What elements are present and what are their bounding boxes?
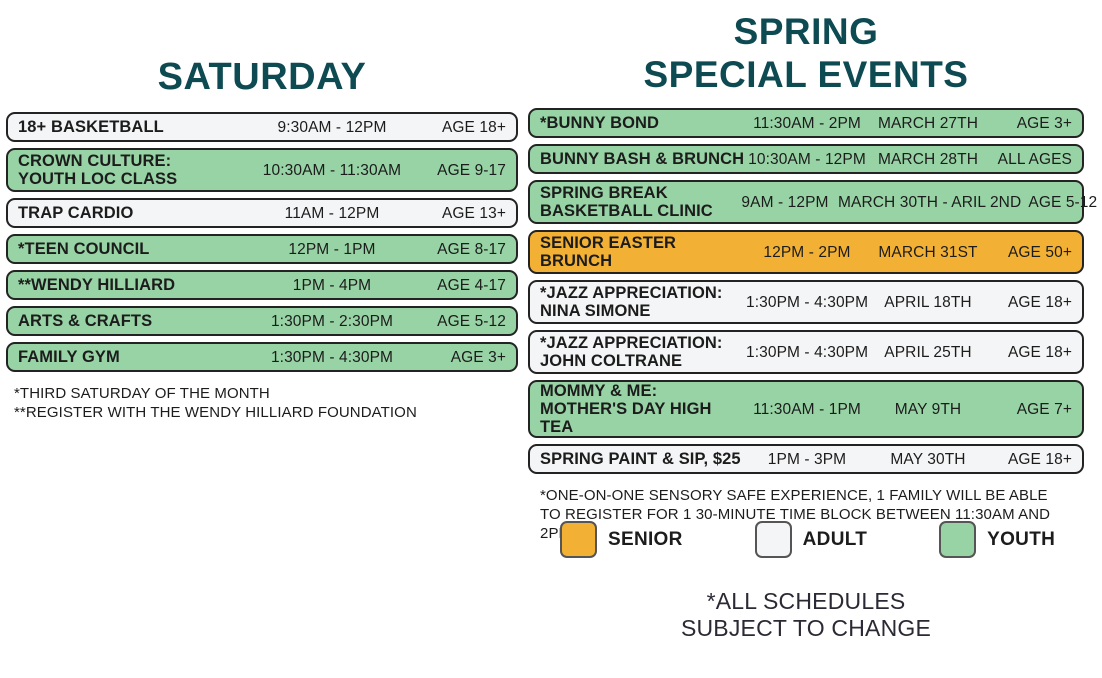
activity-name: 18+ BASKETBALL bbox=[18, 118, 256, 136]
activity-age: AGE 4-17 bbox=[408, 277, 506, 294]
event-row[interactable]: SPRING PAINT & SIP, $251PM - 3PMMAY 30TH… bbox=[528, 444, 1084, 474]
legend-item-youth: YOUTH bbox=[939, 521, 1055, 558]
legend-label: ADULT bbox=[803, 529, 867, 551]
activity-age: AGE 8-17 bbox=[408, 241, 506, 258]
activity-name: FAMILY GYM bbox=[18, 348, 256, 366]
event-age: ALL AGES bbox=[988, 151, 1072, 168]
event-date: APRIL 25TH bbox=[868, 344, 988, 361]
schedule-disclaimer: *ALL SCHEDULES SUBJECT TO CHANGE bbox=[530, 588, 1082, 642]
event-row[interactable]: *BUNNY BOND11:30AM - 2PMMARCH 27THAGE 3+ bbox=[528, 108, 1084, 138]
activity-time: 1:30PM - 2:30PM bbox=[256, 313, 408, 330]
activity-age: AGE 9-17 bbox=[408, 162, 506, 179]
activity-time: 10:30AM - 11:30AM bbox=[256, 162, 408, 179]
activity-age: AGE 3+ bbox=[408, 349, 506, 366]
event-time: 1:30PM - 4:30PM bbox=[746, 344, 868, 361]
event-name: *JAZZ APPRECIATION: JOHN COLTRANE bbox=[540, 334, 746, 370]
event-row[interactable]: SPRING BREAK BASKETBALL CLINIC9AM - 12PM… bbox=[528, 180, 1084, 224]
schedule-row[interactable]: ARTS & CRAFTS1:30PM - 2:30PMAGE 5-12 bbox=[6, 306, 518, 336]
legend-label: SENIOR bbox=[608, 529, 683, 551]
event-date: APRIL 18TH bbox=[868, 294, 988, 311]
activity-name: *TEEN COUNCIL bbox=[18, 240, 256, 258]
event-age: AGE 18+ bbox=[988, 294, 1072, 311]
event-date: MARCH 28TH bbox=[868, 151, 988, 168]
activity-name: TRAP CARDIO bbox=[18, 204, 256, 222]
special-events-section: SPRING SPECIAL EVENTS *BUNNY BOND11:30AM… bbox=[528, 10, 1084, 543]
event-name: *JAZZ APPRECIATION: NINA SIMONE bbox=[540, 284, 746, 320]
schedule-row[interactable]: CROWN CULTURE: YOUTH LOC CLASS10:30AM - … bbox=[6, 148, 518, 192]
event-time: 10:30AM - 12PM bbox=[746, 151, 868, 168]
event-row[interactable]: *JAZZ APPRECIATION: NINA SIMONE1:30PM - … bbox=[528, 280, 1084, 324]
saturday-footnotes: *THIRD SATURDAY OF THE MONTH **REGISTER … bbox=[6, 384, 518, 422]
event-age: AGE 5-12 bbox=[1021, 194, 1097, 211]
activity-time: 1:30PM - 4:30PM bbox=[256, 349, 408, 366]
schedule-row[interactable]: *TEEN COUNCIL12PM - 1PMAGE 8-17 bbox=[6, 234, 518, 264]
event-time: 1:30PM - 4:30PM bbox=[746, 294, 868, 311]
event-date: MARCH 31ST bbox=[868, 244, 988, 261]
activity-time: 11AM - 12PM bbox=[256, 205, 408, 222]
activity-age: AGE 5-12 bbox=[408, 313, 506, 330]
schedule-row[interactable]: **WENDY HILLIARD1PM - 4PMAGE 4-17 bbox=[6, 270, 518, 300]
event-age: AGE 18+ bbox=[988, 344, 1072, 361]
saturday-schedule-section: SATURDAY 18+ BASKETBALL9:30AM - 12PMAGE … bbox=[6, 55, 518, 422]
event-name: SENIOR EASTER BRUNCH bbox=[540, 234, 746, 270]
event-age: AGE 7+ bbox=[988, 401, 1072, 418]
legend-label: YOUTH bbox=[987, 529, 1055, 551]
legend-item-adult: ADULT bbox=[755, 521, 867, 558]
saturday-row-list: 18+ BASKETBALL9:30AM - 12PMAGE 18+CROWN … bbox=[6, 112, 518, 372]
event-name: SPRING BREAK BASKETBALL CLINIC bbox=[540, 184, 732, 220]
event-row[interactable]: MOMMY & ME: MOTHER'S DAY HIGH TEA11:30AM… bbox=[528, 380, 1084, 438]
schedule-row[interactable]: FAMILY GYM1:30PM - 4:30PMAGE 3+ bbox=[6, 342, 518, 372]
activity-time: 1PM - 4PM bbox=[256, 277, 408, 294]
event-age: AGE 18+ bbox=[988, 451, 1072, 468]
activity-age: AGE 13+ bbox=[408, 205, 506, 222]
event-name: SPRING PAINT & SIP, $25 bbox=[540, 450, 746, 468]
activity-name: CROWN CULTURE: YOUTH LOC CLASS bbox=[18, 152, 256, 188]
legend-item-senior: SENIOR bbox=[560, 521, 683, 558]
activity-name: **WENDY HILLIARD bbox=[18, 276, 256, 294]
color-legend: SENIORADULTYOUTH bbox=[560, 521, 1080, 558]
event-date: MAY 9TH bbox=[868, 401, 988, 418]
event-row[interactable]: *JAZZ APPRECIATION: JOHN COLTRANE1:30PM … bbox=[528, 330, 1084, 374]
event-date: MAY 30TH bbox=[868, 451, 988, 468]
legend-swatch-icon bbox=[560, 521, 597, 558]
schedule-row[interactable]: 18+ BASKETBALL9:30AM - 12PMAGE 18+ bbox=[6, 112, 518, 142]
event-date: MARCH 27TH bbox=[868, 115, 988, 132]
legend-swatch-icon bbox=[939, 521, 976, 558]
activity-time: 9:30AM - 12PM bbox=[256, 119, 408, 136]
event-age: AGE 3+ bbox=[988, 115, 1072, 132]
special-events-row-list: *BUNNY BOND11:30AM - 2PMMARCH 27THAGE 3+… bbox=[528, 108, 1084, 474]
event-time: 11:30AM - 1PM bbox=[746, 401, 868, 418]
saturday-title: SATURDAY bbox=[6, 55, 518, 99]
event-row[interactable]: SENIOR EASTER BRUNCH12PM - 2PMMARCH 31ST… bbox=[528, 230, 1084, 274]
event-time: 1PM - 3PM bbox=[746, 451, 868, 468]
event-name: MOMMY & ME: MOTHER'S DAY HIGH TEA bbox=[540, 382, 746, 436]
schedule-row[interactable]: TRAP CARDIO11AM - 12PMAGE 13+ bbox=[6, 198, 518, 228]
activity-age: AGE 18+ bbox=[408, 119, 506, 136]
event-row[interactable]: BUNNY BASH & BRUNCH10:30AM - 12PMMARCH 2… bbox=[528, 144, 1084, 174]
event-name: *BUNNY BOND bbox=[540, 114, 746, 132]
event-time: 9AM - 12PM bbox=[732, 194, 838, 211]
legend-swatch-icon bbox=[755, 521, 792, 558]
event-date: MARCH 30TH - ARIL 2ND bbox=[838, 194, 1021, 211]
event-time: 11:30AM - 2PM bbox=[746, 115, 868, 132]
activity-name: ARTS & CRAFTS bbox=[18, 312, 256, 330]
event-name: BUNNY BASH & BRUNCH bbox=[540, 150, 746, 168]
event-age: AGE 50+ bbox=[988, 244, 1072, 261]
event-time: 12PM - 2PM bbox=[746, 244, 868, 261]
activity-time: 12PM - 1PM bbox=[256, 241, 408, 258]
special-events-title: SPRING SPECIAL EVENTS bbox=[528, 10, 1084, 96]
